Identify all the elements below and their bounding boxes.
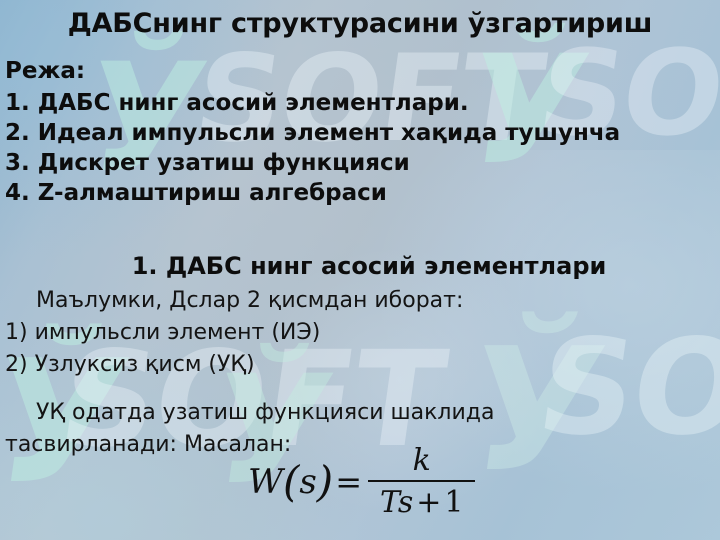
body-line: 2) Узлуксиз қисм (УҚ) [5, 352, 255, 377]
formula-denominator-s: s [398, 485, 413, 520]
slide-title: ДАБСнинг структурасини ўзгартириш [0, 8, 720, 39]
body-line: 1) импульсли элемент (ИЭ) [5, 320, 320, 345]
formula-left-hand-side: W(s) [248, 457, 333, 506]
formula-paren-close: ) [317, 457, 333, 506]
section-heading: 1. ДАБС нинг асосий элементлари [0, 252, 720, 280]
plan-list: 1. ДАБС нинг асосий элементлари. 2. Идеа… [5, 88, 717, 208]
watermark-word: SOFT [531, 322, 720, 454]
formula-paren-open: ( [283, 457, 299, 506]
body-line: Маълумки, Дслар 2 қисмдан иборат: [36, 288, 463, 313]
transfer-function-formula: W(s) = k Ts+1 [248, 443, 475, 520]
formula-function-name: W [248, 462, 283, 502]
plan-list-item: 4. Z-алмаштириш алгебраси [5, 178, 717, 208]
formula-fraction: k Ts+1 [368, 443, 475, 520]
plan-list-item: 3. Дискрет узатиш функцияси [5, 148, 717, 178]
formula-argument: s [299, 462, 316, 502]
plan-list-item: 2. Идеал импульсли элемент хақида тушунч… [5, 118, 717, 148]
formula-denominator: Ts+1 [368, 482, 475, 520]
formula-denominator-t: T [380, 485, 398, 520]
body-line: УҚ одатда узатиш функцияси шаклида [36, 400, 494, 425]
formula-equals-sign: = [335, 463, 362, 501]
presentation-slide: Ў SOFT Ў SOFT Ў SOFT Ў SOFT Ў ДАБСнинг с… [0, 0, 720, 540]
formula-numerator: k [389, 443, 455, 480]
plan-label: Режа: [5, 58, 85, 84]
plan-list-item: 1. ДАБС нинг асосий элементлари. [5, 88, 717, 118]
formula-denominator-operator: + [416, 485, 441, 520]
formula-denominator-one: 1 [444, 485, 463, 520]
